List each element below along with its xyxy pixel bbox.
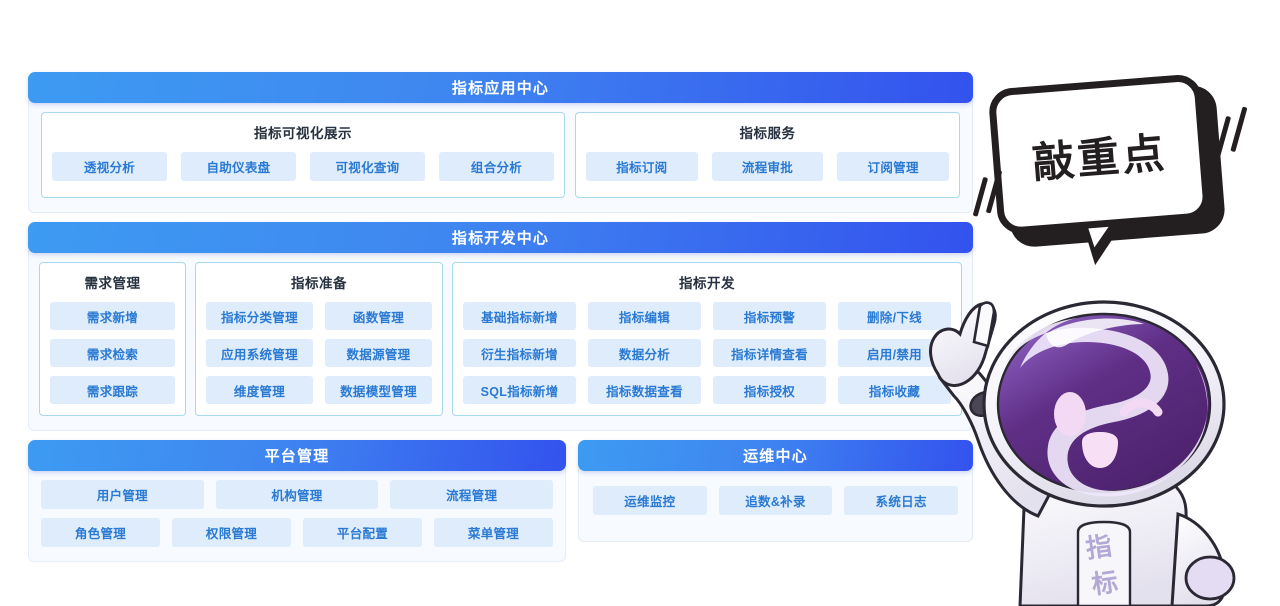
capability-pill[interactable]: 指标授权: [713, 376, 826, 404]
capability-pill[interactable]: 订阅管理: [837, 152, 949, 181]
group-items-visualization: 透视分析 自助仪表盘 可视化查询 组合分析: [52, 152, 554, 181]
capability-pill[interactable]: 机构管理: [216, 480, 379, 509]
group-title-metric-service: 指标服务: [586, 122, 949, 142]
group-items-metric-preparation: 指标分类管理 函数管理 应用系统管理 数据源管理 维度管理 数据模型管理: [206, 302, 432, 404]
capability-pill[interactable]: 追数&补录: [719, 486, 833, 515]
capability-map: 指标应用中心 指标可视化展示 透视分析 自助仪表盘 可视化查询 组合分析 指标服…: [28, 72, 973, 562]
capability-pill[interactable]: 运维监控: [593, 486, 707, 515]
capability-pill[interactable]: 指标订阅: [586, 152, 698, 181]
capability-pill[interactable]: 需求新增: [50, 302, 175, 330]
capability-pill[interactable]: 菜单管理: [434, 518, 553, 547]
capability-pill[interactable]: 组合分析: [439, 152, 554, 181]
capability-pill[interactable]: 指标详情查看: [713, 339, 826, 367]
capability-pill[interactable]: 角色管理: [41, 518, 160, 547]
capability-pill[interactable]: 流程管理: [390, 480, 553, 509]
group-title-metric-preparation: 指标准备: [206, 272, 432, 292]
capability-pill[interactable]: 指标编辑: [588, 302, 701, 330]
section-header-platform-management: 平台管理: [28, 440, 566, 471]
section-body-app-center: 指标可视化展示 透视分析 自助仪表盘 可视化查询 组合分析 指标服务 指标订阅 …: [28, 100, 973, 213]
group-metric-service: 指标服务 指标订阅 流程审批 订阅管理: [575, 112, 960, 198]
capability-pill[interactable]: 指标数据查看: [588, 376, 701, 404]
ops-row-1: 运维监控 追数&补录 系统日志: [593, 486, 958, 515]
section-header-ops-center: 运维中心: [578, 440, 973, 471]
group-title-metric-development: 指标开发: [463, 272, 951, 292]
capability-pill[interactable]: 维度管理: [206, 376, 313, 404]
chest-char-1: 指: [1084, 531, 1114, 564]
capability-pill[interactable]: 数据源管理: [325, 339, 432, 367]
section-body-dev-center: 需求管理 需求新增 需求检索 需求跟踪 指标准备 指标分类管理 函数管理 应用系…: [28, 250, 973, 431]
speech-bubble-text: 敲重点: [1030, 119, 1169, 190]
group-visualization: 指标可视化展示 透视分析 自助仪表盘 可视化查询 组合分析: [41, 112, 565, 198]
mascot-right-arm: [1172, 514, 1234, 606]
section-platform-management: 平台管理 用户管理 机构管理 流程管理 角色管理 权限管理 平台配置 菜单管理: [28, 440, 566, 562]
section-dev-center: 指标开发中心 需求管理 需求新增 需求检索 需求跟踪 指标准备 指标分类管理 函…: [28, 222, 973, 431]
section-body-ops-center: 运维监控 追数&补录 系统日志: [578, 468, 973, 542]
group-metric-development: 指标开发 基础指标新增 指标编辑 指标预警 删除/下线 衍生指标新增 数据分析 …: [452, 262, 962, 416]
group-metric-preparation: 指标准备 指标分类管理 函数管理 应用系统管理 数据源管理 维度管理 数据模型管…: [195, 262, 443, 416]
capability-pill[interactable]: 应用系统管理: [206, 339, 313, 367]
capability-pill[interactable]: 自助仪表盘: [181, 152, 296, 181]
section-app-center: 指标应用中心 指标可视化展示 透视分析 自助仪表盘 可视化查询 组合分析 指标服…: [28, 72, 973, 213]
capability-pill[interactable]: 指标预警: [713, 302, 826, 330]
capability-pill[interactable]: 需求检索: [50, 339, 175, 367]
capability-pill[interactable]: 流程审批: [712, 152, 824, 181]
capability-pill[interactable]: 权限管理: [172, 518, 291, 547]
section-bottom-row: 平台管理 用户管理 机构管理 流程管理 角色管理 权限管理 平台配置 菜单管理: [28, 440, 973, 562]
group-items-metric-development: 基础指标新增 指标编辑 指标预警 删除/下线 衍生指标新增 数据分析 指标详情查…: [463, 302, 951, 404]
capability-pill[interactable]: 数据模型管理: [325, 376, 432, 404]
group-title-demand-management: 需求管理: [50, 272, 175, 292]
capability-pill[interactable]: 需求跟踪: [50, 376, 175, 404]
platform-row-2: 角色管理 权限管理 平台配置 菜单管理: [41, 518, 553, 547]
group-items-metric-service: 指标订阅 流程审批 订阅管理: [586, 152, 949, 181]
platform-row-1: 用户管理 机构管理 流程管理: [41, 480, 553, 509]
capability-pill[interactable]: 平台配置: [303, 518, 422, 547]
group-items-demand-management: 需求新增 需求检索 需求跟踪: [50, 302, 175, 404]
group-demand-management: 需求管理 需求新增 需求检索 需求跟踪: [39, 262, 186, 416]
mascot-robot: 指 标: [928, 300, 1280, 606]
speech-bubble-body: 敲重点: [988, 73, 1212, 235]
capability-pill[interactable]: 函数管理: [325, 302, 432, 330]
section-ops-center: 运维中心 运维监控 追数&补录 系统日志: [578, 440, 973, 562]
capability-pill[interactable]: 数据分析: [588, 339, 701, 367]
capability-pill[interactable]: 指标分类管理: [206, 302, 313, 330]
capability-pill[interactable]: 可视化查询: [310, 152, 425, 181]
speech-bubble-callout: 敲重点: [988, 71, 1248, 290]
capability-pill[interactable]: 衍生指标新增: [463, 339, 576, 367]
capability-pill[interactable]: 基础指标新增: [463, 302, 576, 330]
section-body-platform-management: 用户管理 机构管理 流程管理 角色管理 权限管理 平台配置 菜单管理: [28, 468, 566, 562]
mascot-helmet: [984, 302, 1224, 506]
capability-pill[interactable]: 用户管理: [41, 480, 204, 509]
page-root: 指标应用中心 指标可视化展示 透视分析 自助仪表盘 可视化查询 组合分析 指标服…: [0, 0, 1280, 606]
speed-line-icon: [1230, 106, 1247, 152]
section-header-app-center: 指标应用中心: [28, 72, 973, 103]
capability-pill[interactable]: SQL指标新增: [463, 376, 576, 404]
capability-pill[interactable]: 透视分析: [52, 152, 167, 181]
chest-char-2: 标: [1090, 567, 1120, 600]
mascot-left-eye: [1054, 392, 1086, 436]
group-title-visualization: 指标可视化展示: [52, 122, 554, 142]
section-header-dev-center: 指标开发中心: [28, 222, 973, 253]
